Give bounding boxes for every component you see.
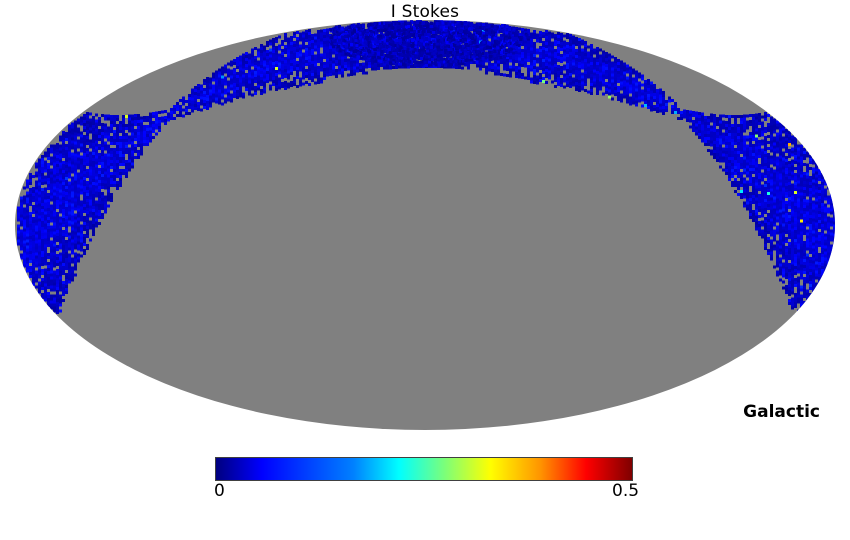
- mollweide-projection-svg: [0, 0, 850, 448]
- coordinate-system-label: Galactic: [743, 402, 820, 422]
- colorbar-max-label: 0.5: [612, 481, 639, 501]
- sky-map-figure: I Stokes Galactic 0 0.5: [0, 0, 850, 540]
- colorbar[interactable]: [215, 457, 633, 481]
- sky-projection-panel: [0, 0, 850, 448]
- colorbar-gradient: [215, 457, 633, 481]
- colorbar-min-label: 0: [214, 481, 225, 501]
- masked-sky-background: [15, 20, 835, 430]
